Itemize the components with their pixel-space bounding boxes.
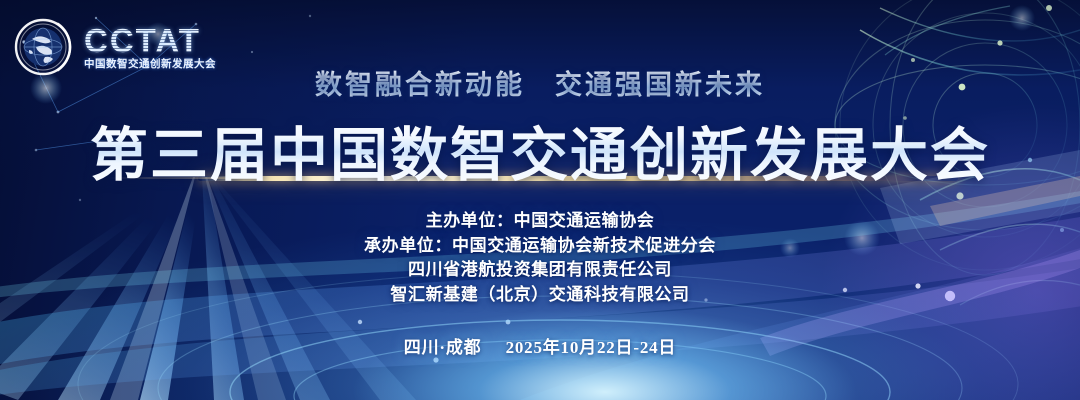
organizer-line: 主办单位：中国交通运输协会 [0,209,1080,234]
cctat-logo[interactable]: CCTAT 中国数智交通创新发展大会 [12,14,216,80]
organizer-line: 承办单位：中国交通运输协会新技术促进分会 [0,234,1080,259]
globe-emblem-icon [12,14,78,80]
logo-acronym: CCTAT [84,24,216,57]
organizer-list: 主办单位：中国交通运输协会 承办单位：中国交通运输协会新技术促进分会 四川省港航… [0,209,1080,307]
venue-location: 四川·成都 [404,338,482,357]
page-title: 第三届中国数智交通创新发展大会 [0,108,1080,192]
venue-dates: 2025年10月22日-24日 [506,338,677,357]
logo-subtitle: 中国数智交通创新发展大会 [84,60,216,71]
organizer-line: 智汇新基建（北京）交通科技有限公司 [0,283,1080,308]
organizer-line: 四川省港航投资集团有限责任公司 [0,258,1080,283]
venue-info: 四川·成都 2025年10月22日-24日 [0,333,1080,358]
conference-banner: CCTAT 中国数智交通创新发展大会 数智融合新动能 交通强国新未来 第三届中国… [0,0,1080,400]
